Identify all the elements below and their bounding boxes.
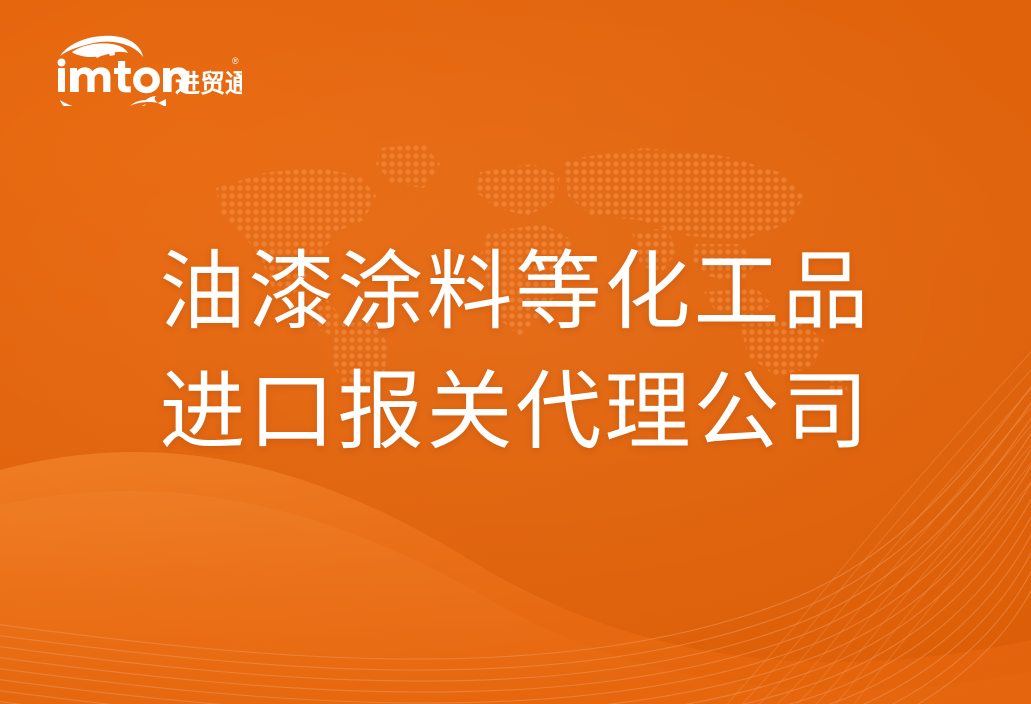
headline-block: 油漆涂料等化工品 进口报关代理公司 xyxy=(0,232,1031,472)
logo-chinese-name: 进贸通 xyxy=(175,69,242,98)
company-logo[interactable]: 进贸通 ® xyxy=(42,30,242,106)
headline-line-2: 进口报关代理公司 xyxy=(0,352,1031,472)
headline-line-1: 油漆涂料等化工品 xyxy=(0,232,1031,352)
fish-swoosh-icon xyxy=(60,100,146,106)
promotional-banner: 进贸通 ® 油漆涂料等化工品 进口报关代理公司 xyxy=(0,0,1031,704)
trademark-symbol: ® xyxy=(232,56,239,66)
